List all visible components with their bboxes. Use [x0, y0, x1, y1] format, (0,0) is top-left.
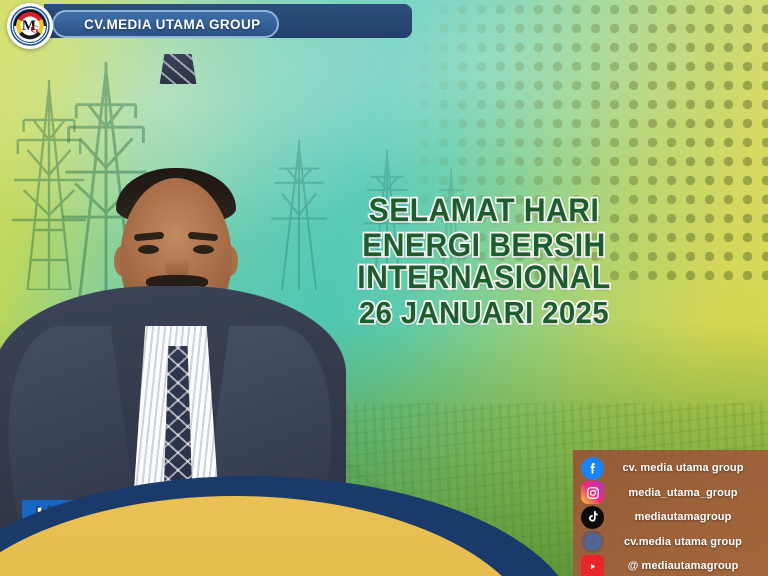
website-icon — [581, 530, 604, 553]
headline-block: SELAMAT HARI ENERGI BERSIH INTERNASIONAL… — [224, 194, 744, 328]
headline-line-2: ENERGI BERSIH INTERNASIONAL — [240, 229, 729, 294]
instagram-icon — [581, 481, 604, 504]
social-row-website[interactable]: cv.media utama group — [581, 530, 762, 555]
social-handle: mediautamagroup — [604, 511, 762, 523]
header-bar: CV.MEDIA UTAMA GROUP M G — [0, 0, 420, 48]
social-row-facebook[interactable]: cv. media utama group — [581, 456, 762, 481]
social-handle: @ mediautamagroup — [604, 560, 762, 572]
social-row-tiktok[interactable]: mediautamagroup — [581, 505, 762, 530]
portrait-tie-knot — [158, 54, 198, 84]
portrait-eye — [193, 245, 214, 254]
media-utama-group-logo-icon[interactable]: M G — [7, 3, 53, 49]
portrait-eye — [138, 245, 159, 254]
social-handle: cv. media utama group — [604, 462, 762, 474]
social-handle: media_utama_group — [604, 487, 762, 499]
brand-pill[interactable]: CV.MEDIA UTAMA GROUP — [52, 10, 279, 38]
facebook-icon — [581, 457, 604, 480]
svg-text:G: G — [30, 24, 39, 36]
poster-canvas: SELAMAT HARI ENERGI BERSIH INTERNASIONAL… — [0, 0, 768, 576]
headline-line-1: SELAMAT HARI — [240, 194, 729, 227]
tiktok-icon — [581, 506, 604, 529]
brand-label: CV.MEDIA UTAMA GROUP — [84, 17, 261, 32]
youtube-icon — [581, 555, 604, 576]
social-media-panel: cv. media utama group media_utama_group … — [573, 450, 768, 576]
headline-line-3: 26 JANUARI 2025 — [240, 297, 729, 329]
social-row-youtube[interactable]: @ mediautamagroup — [581, 554, 762, 576]
social-handle: cv.media utama group — [604, 536, 762, 548]
social-row-instagram[interactable]: media_utama_group — [581, 481, 762, 506]
